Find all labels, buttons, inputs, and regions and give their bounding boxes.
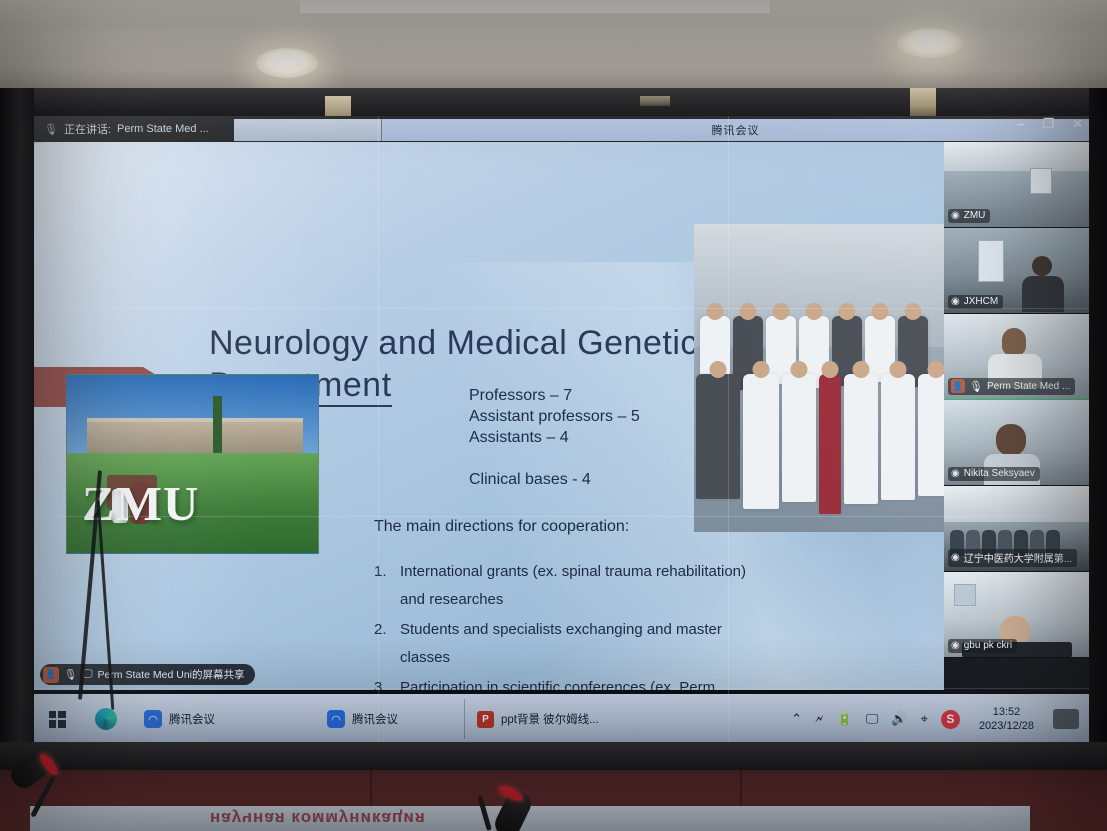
list-item-number: 2. xyxy=(374,616,390,672)
list-item-number: 3. xyxy=(374,674,390,690)
list-item-number: 1. xyxy=(374,558,390,614)
clinical-bases-line: Clinical bases - 4 xyxy=(469,471,591,489)
participant-name: gbu pk ckri xyxy=(964,640,1012,651)
chevron-up-icon[interactable]: ⌃ xyxy=(791,711,802,727)
edge-icon xyxy=(95,708,117,730)
taskbar-button-label: 腾讯会议 xyxy=(352,711,398,727)
campus-letters: ZMU xyxy=(82,468,313,532)
monitor-icon[interactable]: 🖵 xyxy=(866,711,879,727)
speaking-indicator: 🎙 正在讲话: Perm State Med ... xyxy=(34,121,234,137)
staff-item: Assistant professors – 5 xyxy=(469,406,640,427)
ceiling-light xyxy=(897,28,963,58)
participant-name: JXHCM xyxy=(964,296,998,307)
list-item-text: International grants (ex. spinal trauma … xyxy=(400,558,774,614)
edge-taskbar-button[interactable] xyxy=(80,708,132,730)
battery-icon[interactable]: 🔋 xyxy=(837,711,853,727)
start-button[interactable] xyxy=(34,711,80,728)
list-item: 3. Participation in scientific conferenc… xyxy=(374,674,774,690)
ime-icon[interactable]: S xyxy=(941,710,960,729)
directions-heading: The main directions for cooperation: xyxy=(374,518,629,536)
screen-bezel-left xyxy=(0,88,34,748)
mic-icon: 🎙 xyxy=(969,380,983,393)
taskbar-button-tencent-meeting[interactable]: ◠ 腾讯会议 xyxy=(132,702,227,736)
staff-item: Professors – 7 xyxy=(469,385,640,406)
reflected-banner: научная коммуникация xyxy=(30,806,1030,831)
department-group-photo xyxy=(694,224,944,532)
tencent-meeting-icon: ◠ xyxy=(327,710,345,728)
screen-share-label: Perm State Med Uni的屏幕共享 xyxy=(97,667,244,682)
meeting-window-topbar: 🎙 正在讲话: Perm State Med ... 腾讯会议 – ❐ ✕ xyxy=(34,116,1089,142)
participant-tile[interactable]: ◉ JXHCM xyxy=(944,228,1089,314)
clock-time: 13:52 xyxy=(979,705,1034,719)
avatar: 👤 xyxy=(951,379,965,393)
notification-icon[interactable] xyxy=(1053,709,1079,729)
participant-tile-active-speaker[interactable]: 👤 🎙 Perm State Med ... xyxy=(944,314,1089,400)
taskbar-button-powerpoint[interactable]: P ppt背景 彼尔姆线... xyxy=(465,702,611,736)
taskbar-button-label: ppt背景 彼尔姆线... xyxy=(501,711,599,727)
taskbar-button-label: 腾讯会议 xyxy=(169,711,215,727)
staff-counts: Professors – 7 Assistant professors – 5 … xyxy=(469,385,640,448)
minimize-button[interactable]: – xyxy=(1017,116,1024,132)
participant-name: ZMU xyxy=(964,210,986,221)
close-button[interactable]: ✕ xyxy=(1072,116,1083,132)
tencent-meeting-icon: ◠ xyxy=(144,710,162,728)
participant-video-strip: ◉ ZMU ◉ JXHCM xyxy=(944,142,1089,690)
usb-icon[interactable]: 🗲 xyxy=(815,711,824,727)
list-item: 2. Students and specialists exchanging a… xyxy=(374,616,774,672)
powerpoint-icon: P xyxy=(477,711,494,728)
windows-taskbar: ◠ 腾讯会议 ◠ 腾讯会议 P ppt背景 彼尔姆线... ⌃ 🗲 🔋 🖵 🔊 … xyxy=(34,694,1089,744)
participant-label: ◉ ZMU xyxy=(948,209,990,223)
banner-text: научная коммуникация xyxy=(210,808,426,828)
taskbar-button-tencent-meeting[interactable]: ◠ 腾讯会议 xyxy=(315,702,410,736)
participant-label: 👤 🎙 Perm State Med ... xyxy=(948,378,1075,395)
speaking-name-label: Perm State Med ... xyxy=(117,123,209,135)
screen-share-indicator[interactable]: 👤 🎙 🖵 Perm State Med Uni的屏幕共享 xyxy=(40,664,255,685)
participant-name: Nikita Seksyaev xyxy=(964,468,1035,479)
person-icon: 👤 xyxy=(43,667,59,683)
mic-icon: 🎙 xyxy=(64,668,77,681)
screen-bezel-right xyxy=(1089,88,1107,748)
participant-tile[interactable]: ◉ Nikita Seksyaev xyxy=(944,400,1089,486)
speaker-icon[interactable]: 🔊 xyxy=(891,711,907,727)
list-item: 1. International grants (ex. spinal trau… xyxy=(374,558,774,614)
app-title: 腾讯会议 xyxy=(712,122,760,138)
speaking-prefix-label: 正在讲话: xyxy=(64,121,111,137)
participant-label: ◉ JXHCM xyxy=(948,295,1003,309)
window-titlebar[interactable]: 腾讯会议 – ❐ ✕ xyxy=(382,119,1089,141)
camera-icon: ◉ xyxy=(951,640,960,651)
clock-date: 2023/12/28 xyxy=(979,719,1034,733)
participant-label: ◉ 辽宁中医药大学附属第... xyxy=(948,549,1077,567)
camera-icon: ◉ xyxy=(951,552,960,563)
participant-label: ◉ Nikita Seksyaev xyxy=(948,467,1040,481)
maximize-button[interactable]: ❐ xyxy=(1042,116,1054,132)
video-wall-screen: 🎙 正在讲话: Perm State Med ... 腾讯会议 – ❐ ✕ xyxy=(34,116,1089,744)
wall-light xyxy=(910,88,936,118)
participant-name: Perm State Med ... xyxy=(987,381,1070,392)
system-tray: ⌃ 🗲 🔋 🖵 🔊 ⌖ S 13:52 2023/12/28 xyxy=(791,705,1089,733)
conference-room-photo: 🎙 正在讲话: Perm State Med ... 腾讯会议 – ❐ ✕ xyxy=(0,0,1107,831)
participant-tile[interactable]: ◉ gbu pk ckri xyxy=(944,572,1089,658)
ceiling-notch xyxy=(300,0,770,13)
participant-label: ◉ gbu pk ckri xyxy=(948,639,1017,653)
camera-icon: ◉ xyxy=(951,468,960,479)
shared-slide: Neurology and Medical Genetics Departmen… xyxy=(34,142,944,690)
mic-icon: 🎙 xyxy=(44,123,58,136)
staff-item: Assistants – 4 xyxy=(469,427,640,448)
camera-icon: ◉ xyxy=(951,210,960,221)
network-icon[interactable]: ⌖ xyxy=(921,711,928,727)
directions-list: 1. International grants (ex. spinal trau… xyxy=(374,558,774,690)
participant-tile[interactable]: ◉ ZMU xyxy=(944,142,1089,228)
list-item-text: Students and specialists exchanging and … xyxy=(400,616,774,672)
participant-name: 辽宁中医药大学附属第... xyxy=(964,550,1072,565)
ceiling-light xyxy=(256,48,318,78)
campus-photo: ZMU xyxy=(66,374,319,554)
camera-icon: ◉ xyxy=(951,296,960,307)
window-tab-ghost[interactable] xyxy=(234,119,382,141)
wall-light xyxy=(640,96,670,106)
windows-icon xyxy=(49,711,66,728)
list-item-text: Participation in scientific conferences … xyxy=(400,674,774,690)
photo-building xyxy=(87,418,303,457)
photo-people-row xyxy=(696,374,944,514)
participant-tile[interactable]: ◉ 辽宁中医药大学附属第... xyxy=(944,486,1089,572)
clock[interactable]: 13:52 2023/12/28 xyxy=(973,705,1040,733)
